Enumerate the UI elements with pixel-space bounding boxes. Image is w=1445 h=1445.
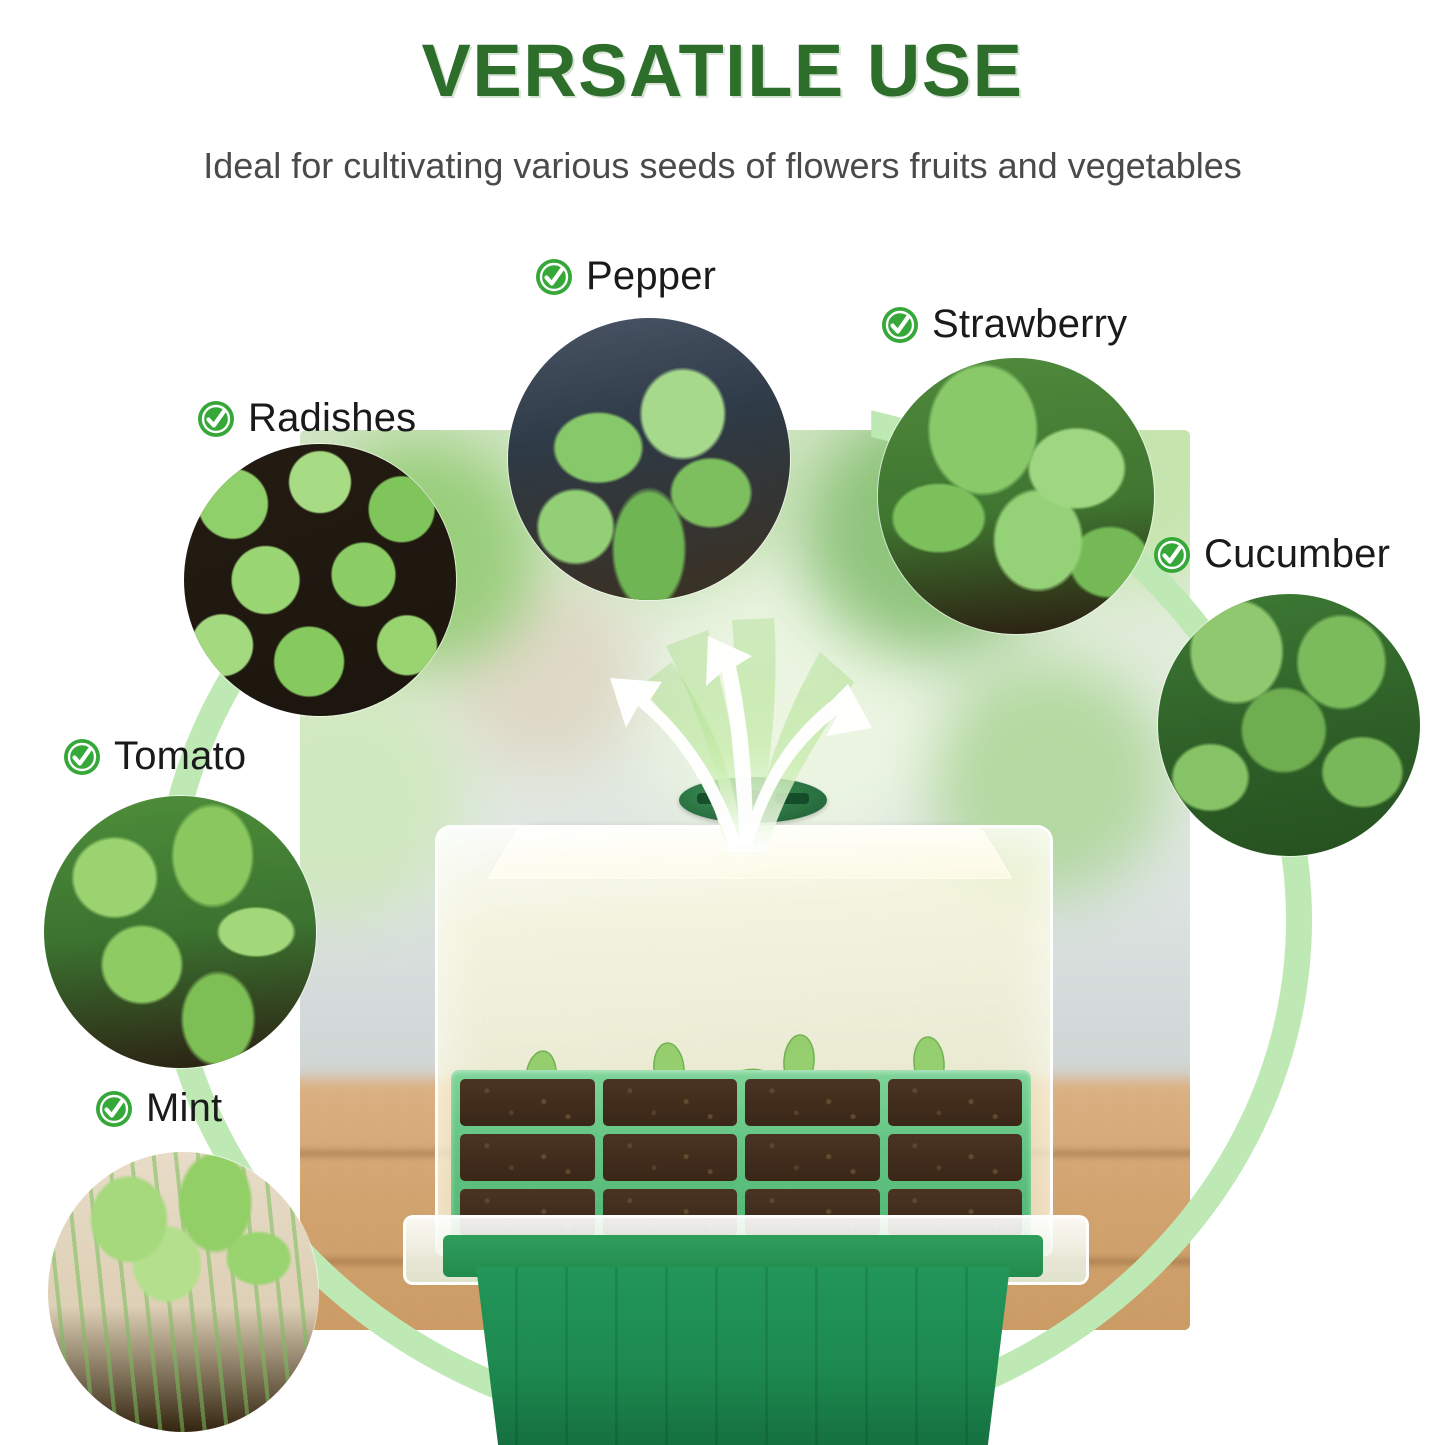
crop-label-text: Cucumber [1204, 532, 1390, 577]
crop-label-pepper: Pepper [534, 254, 716, 299]
crop-label-cucumber: Cucumber [1152, 532, 1390, 577]
seed-cell [460, 1079, 595, 1126]
mint-seedlings-photo [48, 1152, 318, 1432]
cucumber-seedlings-photo [1158, 594, 1420, 856]
seed-cell [603, 1134, 738, 1181]
crop-photo-cucumber [1158, 594, 1420, 856]
page-title: VERSATILE USE [0, 28, 1445, 113]
crop-label-text: Pepper [586, 254, 716, 299]
pepper-seedlings-photo [508, 318, 790, 600]
seed-cell [745, 1079, 880, 1126]
radish-seedlings-photo [184, 444, 456, 716]
vent-slot [697, 793, 733, 804]
crop-photo-strawberry [878, 358, 1154, 634]
seed-cell [603, 1079, 738, 1126]
check-circle-icon [196, 399, 236, 439]
seed-cell [888, 1134, 1023, 1181]
strawberry-seedlings-photo [878, 358, 1154, 634]
crop-label-strawberry: Strawberry [880, 302, 1127, 347]
crop-label-radishes: Radishes [196, 396, 416, 441]
crop-label-tomato: Tomato [62, 734, 246, 779]
crop-photo-pepper [508, 318, 790, 600]
vent-slot [775, 793, 809, 804]
seed-cell [888, 1079, 1023, 1126]
seed-cell [460, 1134, 595, 1181]
check-circle-icon [534, 257, 574, 297]
seed-starter-tray [395, 745, 1135, 1445]
crop-label-text: Mint [146, 1086, 222, 1131]
seed-cell [745, 1134, 880, 1181]
infographic-canvas: VERSATILE USE Ideal for cultivating vari… [0, 0, 1445, 1445]
tomato-seedlings-photo [44, 796, 316, 1068]
crop-label-text: Radishes [248, 396, 416, 441]
check-circle-icon [62, 737, 102, 777]
crop-photo-radishes [184, 444, 456, 716]
page-subtitle: Ideal for cultivating various seeds of f… [0, 145, 1445, 187]
check-circle-icon [94, 1089, 134, 1129]
crop-label-mint: Mint [94, 1086, 222, 1131]
vent-center-hole [740, 790, 764, 804]
crop-label-text: Tomato [114, 734, 246, 779]
check-circle-icon [880, 305, 920, 345]
tray-base [465, 1267, 1021, 1445]
crop-photo-tomato [44, 796, 316, 1068]
crop-label-text: Strawberry [932, 302, 1127, 347]
crop-photo-mint [48, 1152, 318, 1432]
check-circle-icon [1152, 535, 1192, 575]
